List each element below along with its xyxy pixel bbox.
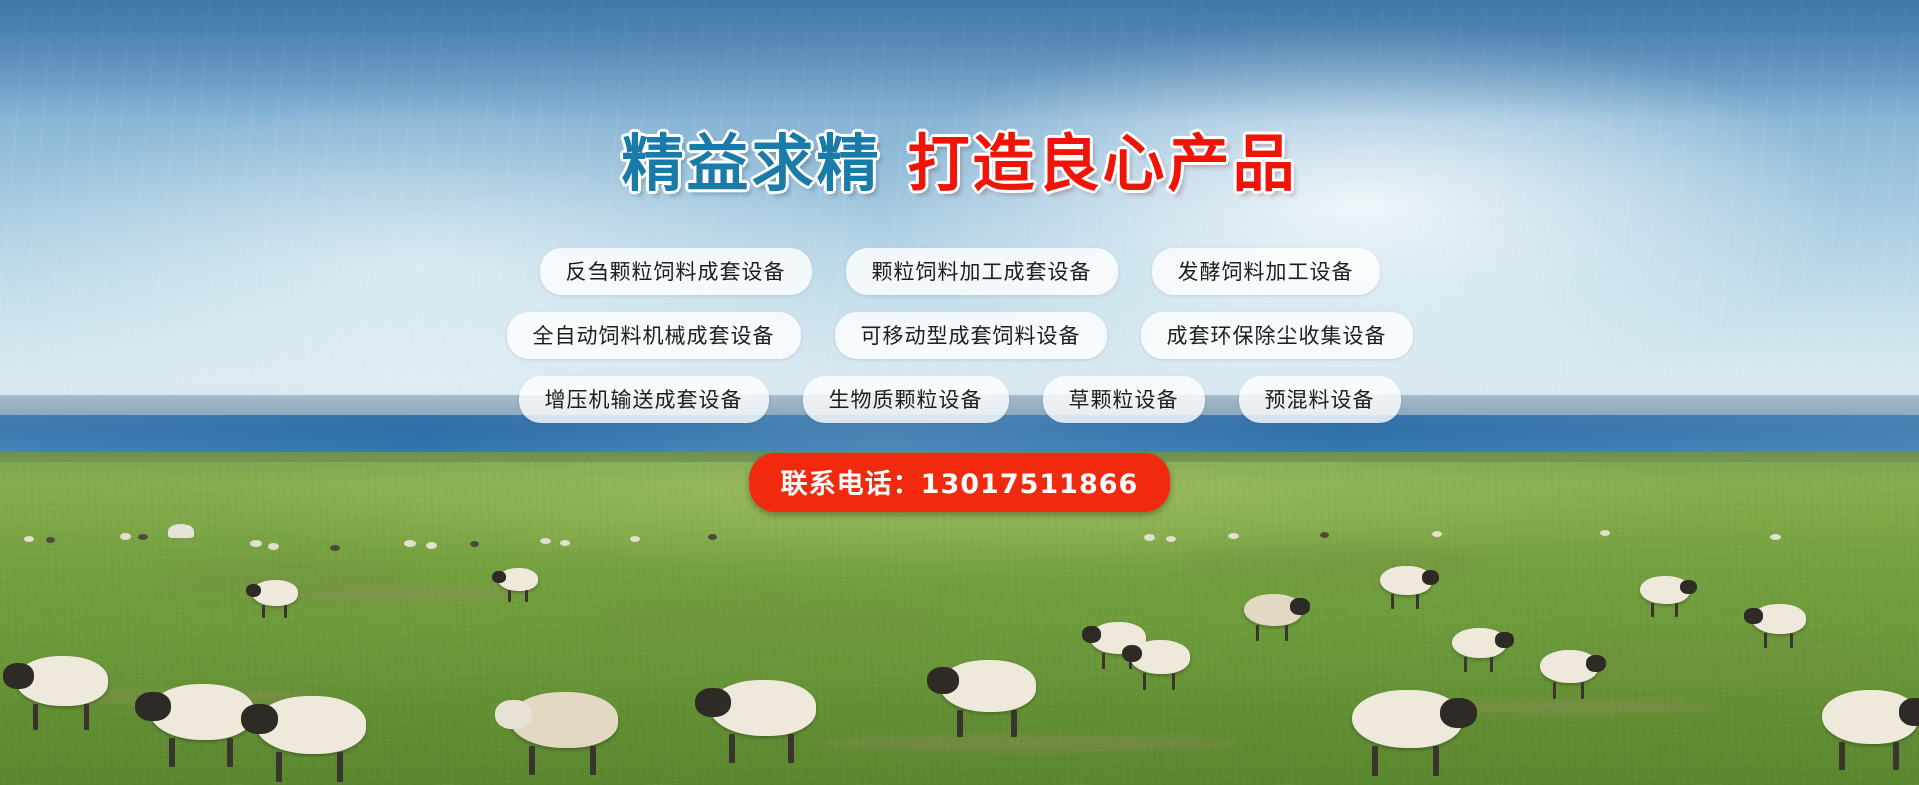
headline: 精益求精打造良心产品 — [0, 133, 1919, 195]
distant-sheep — [1228, 533, 1239, 539]
sheep-head — [1440, 698, 1477, 728]
sheep — [1380, 566, 1432, 595]
sheep-leg — [1433, 746, 1439, 776]
sky-top-haze — [0, 0, 1919, 120]
sheep-leg — [1581, 682, 1584, 699]
distant-sheep — [46, 537, 55, 543]
sheep-head — [1290, 598, 1310, 615]
product-tag[interactable]: 生物质颗粒设备 — [803, 376, 1009, 423]
sheep — [1540, 650, 1598, 683]
sheep-leg — [1256, 625, 1259, 642]
sheep — [940, 660, 1036, 712]
sheep-head — [3, 663, 34, 689]
product-tag-row: 反刍颗粒饲料成套设备 颗粒饲料加工成套设备 发酵饲料加工设备 — [0, 248, 1919, 295]
sheep-head — [1586, 655, 1606, 672]
sheep-leg — [1011, 710, 1017, 737]
sheep-head — [1680, 580, 1697, 595]
sheep-leg — [729, 734, 735, 763]
sheep — [16, 656, 108, 706]
sheep-head — [927, 667, 960, 694]
sheep-leg — [33, 704, 38, 730]
product-tag[interactable]: 增压机输送成套设备 — [519, 376, 769, 423]
product-tag[interactable]: 成套环保除尘收集设备 — [1141, 312, 1413, 359]
sheep-leg — [1490, 657, 1493, 673]
sheep-leg — [1764, 633, 1767, 649]
sheep — [256, 696, 366, 754]
sheep-leg — [1102, 653, 1105, 670]
distant-sheep — [250, 540, 262, 547]
sheep-leg — [525, 590, 528, 602]
distant-sheep — [1166, 536, 1176, 542]
sheep — [498, 568, 538, 591]
sheep-head — [1744, 608, 1762, 624]
sheep-leg — [508, 590, 511, 602]
distant-sheep — [120, 533, 131, 540]
distant-sheep — [560, 540, 570, 546]
sheep-head — [492, 571, 506, 583]
product-tag[interactable]: 发酵饲料加工设备 — [1152, 248, 1380, 295]
sheep — [510, 692, 618, 748]
distant-sheep — [630, 536, 640, 542]
sheep — [1352, 690, 1462, 748]
yurt — [168, 524, 194, 538]
sheep — [252, 580, 298, 606]
sheep-leg — [1839, 742, 1845, 770]
sheep — [150, 684, 254, 740]
sheep-leg — [276, 752, 282, 782]
dirt-patch — [300, 588, 520, 600]
sheep-leg — [1464, 657, 1467, 673]
sheep-head — [1422, 570, 1440, 585]
sheep-head — [1122, 645, 1142, 663]
sheep-leg — [1675, 603, 1678, 618]
sheep — [710, 680, 816, 736]
product-tag[interactable]: 预混料设备 — [1239, 376, 1401, 423]
sheep — [1452, 628, 1506, 658]
sheep-leg — [1372, 746, 1378, 776]
sheep-leg — [227, 738, 233, 767]
product-tag[interactable]: 反刍颗粒饲料成套设备 — [540, 248, 812, 295]
sheep — [1130, 640, 1190, 674]
distant-sheep — [470, 541, 479, 547]
distant-sheep — [268, 543, 279, 550]
sheep — [1640, 576, 1690, 604]
product-tag[interactable]: 颗粒饲料加工成套设备 — [846, 248, 1118, 295]
sheep — [1752, 604, 1806, 634]
sheep-head — [1899, 698, 1919, 726]
distant-sheep — [1432, 531, 1442, 537]
distant-sheep — [330, 545, 340, 551]
distant-sheep — [708, 534, 717, 540]
sheep-leg — [1285, 625, 1288, 642]
sheep-leg — [1172, 673, 1175, 691]
distant-sheep — [24, 536, 34, 542]
product-tag[interactable]: 全自动饲料机械成套设备 — [507, 312, 801, 359]
distant-sheep — [138, 534, 148, 540]
distant-sheep — [1144, 534, 1155, 541]
sheep-leg — [1143, 673, 1146, 691]
sheep-leg — [1893, 742, 1899, 770]
sheep-leg — [788, 734, 794, 763]
hero-banner: 精益求精打造良心产品 反刍颗粒饲料成套设备 颗粒饲料加工成套设备 发酵饲料加工设… — [0, 0, 1919, 785]
sheep-leg — [169, 738, 175, 767]
grass-patch — [1560, 640, 1880, 690]
sheep-leg — [590, 746, 596, 775]
headline-red-text: 打造良心产品 — [908, 127, 1298, 200]
product-tag-list: 反刍颗粒饲料成套设备 颗粒饲料加工成套设备 发酵饲料加工设备 全自动饲料机械成套… — [0, 248, 1919, 440]
sheep-leg — [84, 704, 89, 730]
sheep-head — [246, 584, 262, 598]
sheep-head — [1082, 626, 1101, 643]
distant-sheep — [404, 540, 416, 547]
product-tag-row: 全自动饲料机械成套设备 可移动型成套饲料设备 成套环保除尘收集设备 — [0, 312, 1919, 359]
distant-sheep — [426, 542, 437, 549]
distant-sheep — [1600, 530, 1610, 536]
sheep — [1822, 690, 1918, 744]
sheep-head — [695, 688, 731, 717]
sheep-leg — [337, 752, 343, 782]
sheep-leg — [262, 605, 265, 619]
product-tag-row: 增压机输送成套设备 生物质颗粒设备 草颗粒设备 预混料设备 — [0, 376, 1919, 423]
sheep-leg — [957, 710, 963, 737]
product-tag[interactable]: 可移动型成套饲料设备 — [835, 312, 1107, 359]
distant-sheep — [540, 538, 551, 544]
contact-phone-badge[interactable]: 联系电话：13017511866 — [749, 453, 1171, 512]
sheep-head — [135, 692, 170, 721]
distant-sheep — [1320, 532, 1329, 538]
sheep-leg — [1416, 594, 1419, 609]
dirt-patch — [820, 735, 1240, 751]
sheep-leg — [1553, 682, 1556, 699]
sheep-leg — [1790, 633, 1793, 649]
sheep-leg — [284, 605, 287, 619]
sheep-head — [1495, 632, 1513, 648]
grass-patch — [600, 600, 940, 646]
sheep — [1244, 594, 1302, 626]
sheep-leg — [529, 746, 535, 775]
sheep-head — [241, 704, 278, 734]
product-tag[interactable]: 草颗粒设备 — [1043, 376, 1205, 423]
headline-blue-text: 精益求精 — [621, 127, 881, 200]
sheep-leg — [1651, 603, 1654, 618]
distant-sheep — [1770, 534, 1781, 540]
sheep-head — [495, 700, 532, 729]
sheep-leg — [1391, 594, 1394, 609]
